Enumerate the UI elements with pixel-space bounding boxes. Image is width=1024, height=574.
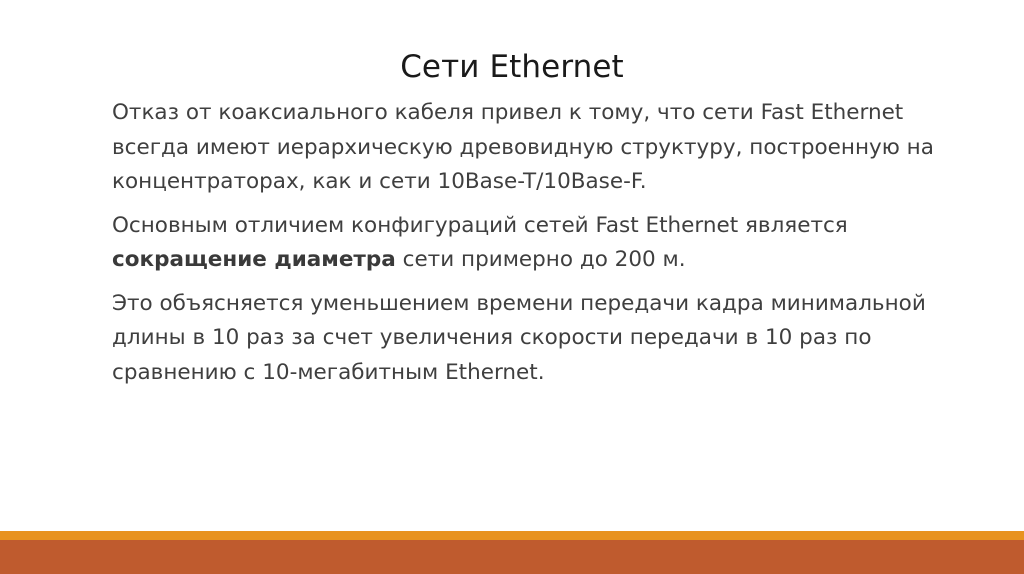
paragraph-2-lead: Основным отличием конфигураций сетей Fas… — [112, 213, 848, 238]
footer-base-bar — [0, 540, 1024, 574]
slide-body: Отказ от коаксиального кабеля привел к т… — [112, 96, 936, 390]
slide-canvas: Сети Ethernet Отказ от коаксиального каб… — [0, 0, 1024, 574]
body-paragraph-2: Основным отличием конфигураций сетей Fas… — [112, 209, 936, 278]
footer-accent-bar — [0, 531, 1024, 540]
paragraph-2-tail: сети примерно до 200 м. — [396, 247, 686, 272]
body-paragraph-1: Отказ от коаксиального кабеля привел к т… — [112, 96, 936, 200]
paragraph-2-emphasis: сокращение диаметра — [112, 247, 396, 272]
page-title: Сети Ethernet — [0, 47, 1024, 87]
body-paragraph-3: Это объясняется уменьшением времени пере… — [112, 287, 936, 391]
